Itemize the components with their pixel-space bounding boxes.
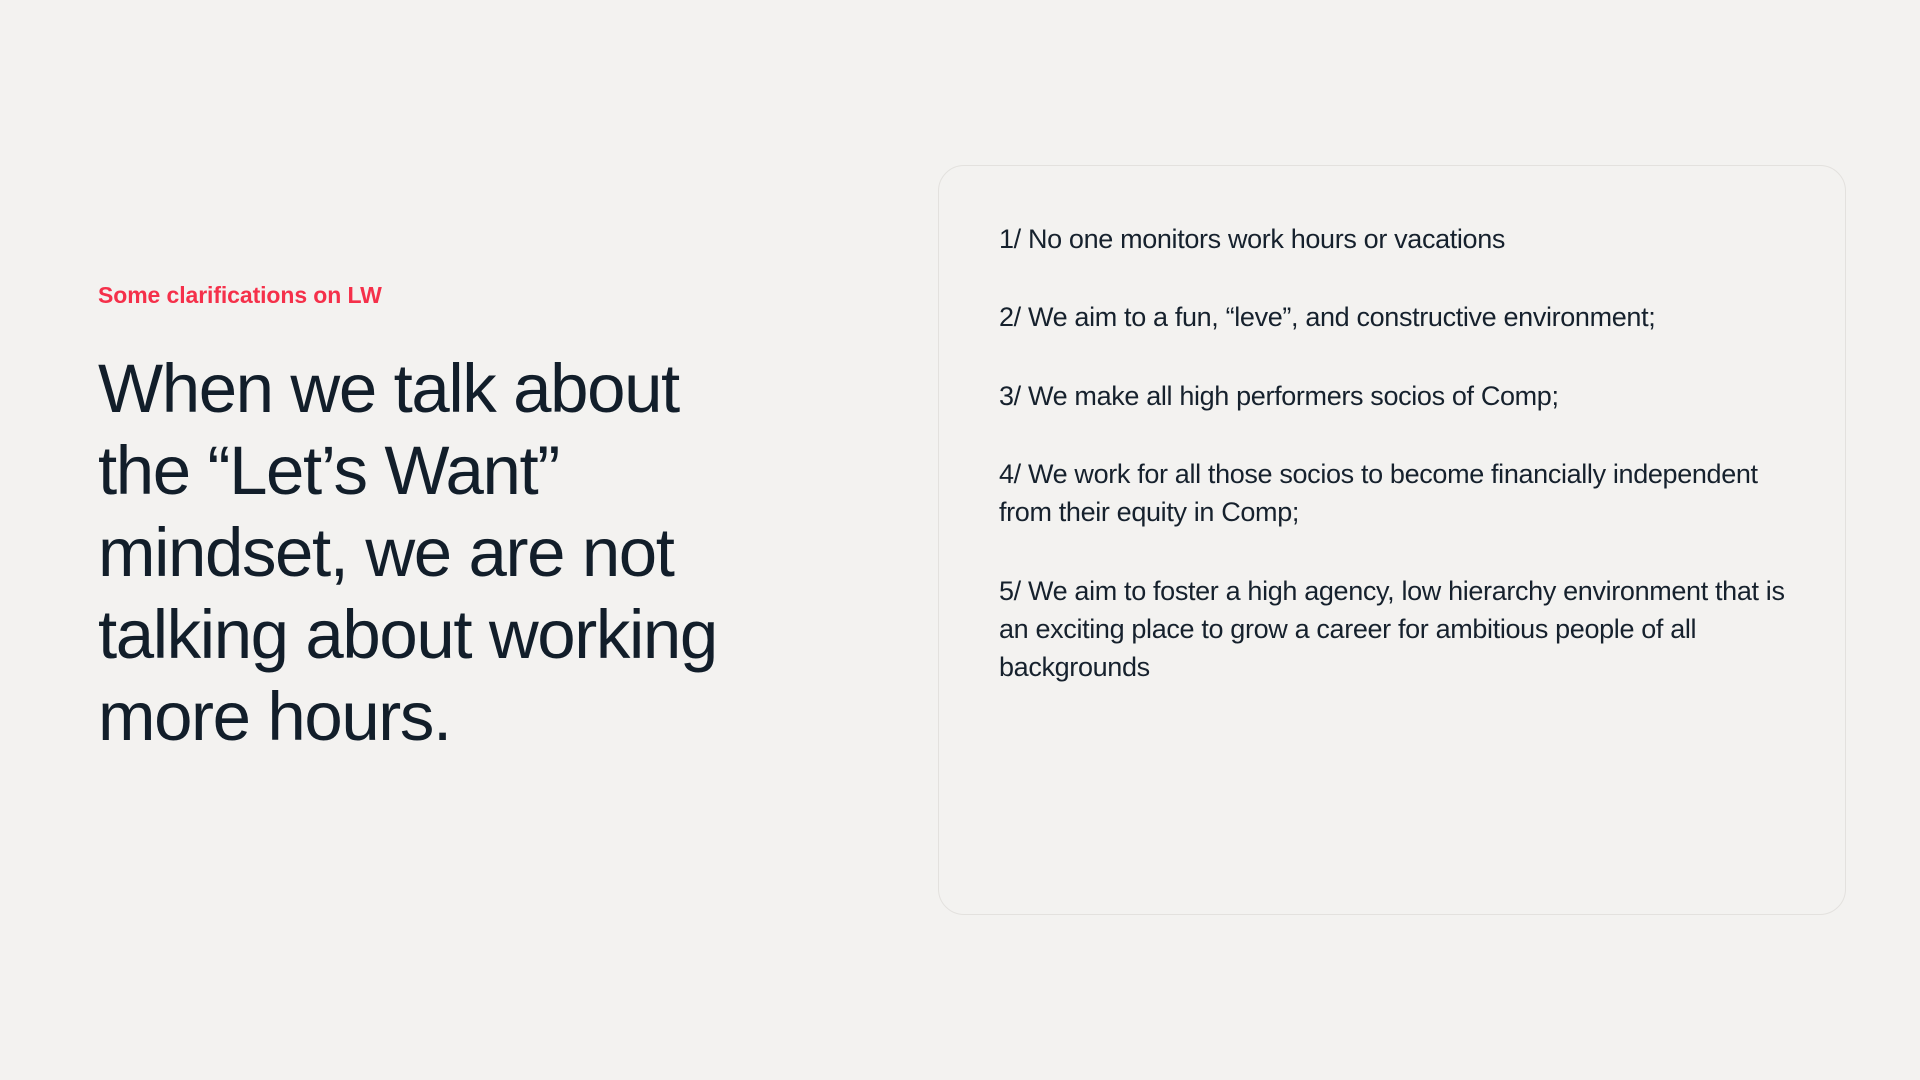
clarifications-card: 1/ No one monitors work hours or vacatio…: [938, 165, 1846, 915]
page-title: When we talk about the “Let’s Want” mind…: [98, 348, 788, 759]
eyebrow-label: Some clarifications on LW: [98, 282, 818, 310]
list-item: 5/ We aim to foster a high agency, low h…: [999, 572, 1785, 687]
list-item: 3/ We make all high performers socios of…: [999, 377, 1785, 415]
list-item: 2/ We aim to a fun, “leve”, and construc…: [999, 298, 1785, 336]
list-item: 4/ We work for all those socios to becom…: [999, 455, 1785, 532]
list-item: 1/ No one monitors work hours or vacatio…: [999, 220, 1785, 258]
slide-canvas: Some clarifications on LW When we talk a…: [0, 0, 1920, 1080]
left-content-column: Some clarifications on LW When we talk a…: [98, 282, 818, 758]
clarifications-list: 1/ No one monitors work hours or vacatio…: [999, 220, 1785, 687]
